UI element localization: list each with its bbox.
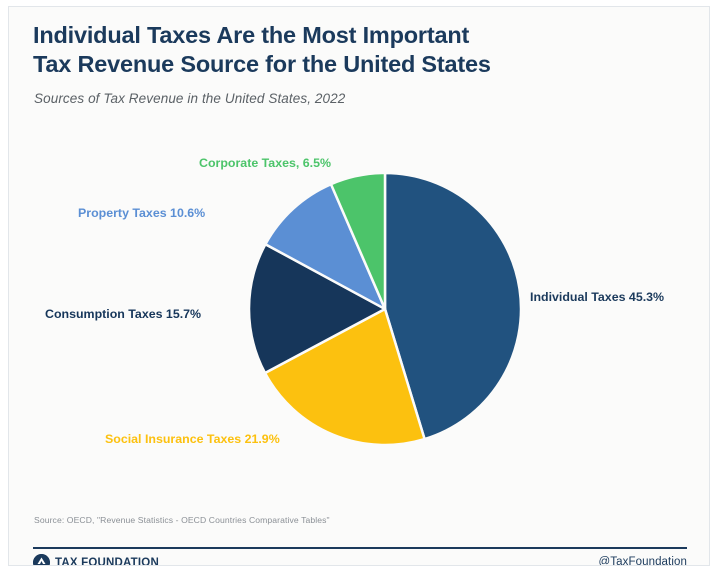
slice-label-individual-taxes: Individual Taxes 45.3% xyxy=(530,290,664,304)
footer: TAX FOUNDATION @TaxFoundation xyxy=(33,553,687,566)
social-handle: @TaxFoundation xyxy=(598,556,687,566)
pie-slice-group xyxy=(249,173,521,445)
slice-label-corporate-taxes: Corporate Taxes, 6.5% xyxy=(199,156,331,170)
tax-foundation-logo-icon xyxy=(33,554,50,566)
brand-name: TAX FOUNDATION xyxy=(55,557,159,567)
slice-label-consumption-taxes: Consumption Taxes 15.7% xyxy=(45,307,201,321)
brand-logo: TAX FOUNDATION xyxy=(33,554,159,566)
chart-card: Individual Taxes Are the Most Important … xyxy=(8,6,710,566)
slice-label-property-taxes: Property Taxes 10.6% xyxy=(78,206,205,220)
footer-divider xyxy=(33,547,687,549)
source-note: Source: OECD, "Revenue Statistics - OECD… xyxy=(34,515,330,525)
pie-chart xyxy=(9,7,710,566)
slice-label-social-insurance-taxes: Social Insurance Taxes 21.9% xyxy=(105,432,280,446)
